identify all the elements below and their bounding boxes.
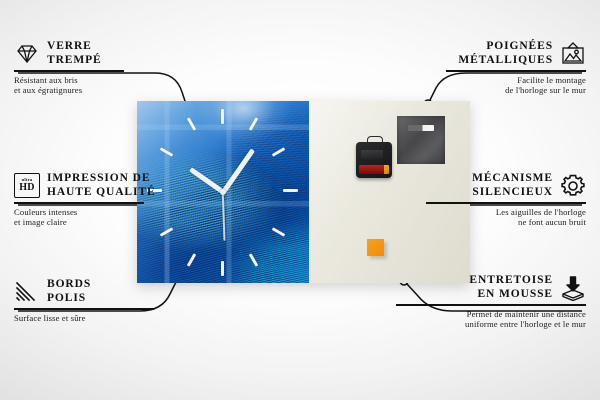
polished-edge-lines-icon bbox=[14, 279, 40, 305]
feature-bords-polis: BORDS POLIS Surface lisse et sûre bbox=[14, 278, 224, 323]
feature-header: VERRE TREMPÉ bbox=[14, 40, 224, 67]
feature-subtitle: Facilite le montage de l'horloge sur le … bbox=[376, 75, 586, 96]
feature-title: MÉCANISME SILENCIEUX bbox=[472, 172, 553, 199]
hanger-slot bbox=[408, 125, 434, 131]
arrow-onto-pad-icon bbox=[560, 275, 586, 301]
feature-title: IMPRESSION DE HAUTE QUALITÉ bbox=[47, 172, 156, 199]
feature-subtitle: Couleurs intenses et image claire bbox=[14, 207, 224, 228]
hd-label: HD bbox=[19, 183, 35, 193]
feature-title: VERRE TREMPÉ bbox=[47, 40, 102, 67]
infographic-canvas: VERRE TREMPÉ Résistant aux bris et aux é… bbox=[0, 0, 600, 400]
gear-icon bbox=[560, 173, 586, 199]
feature-header: ENTRETOISE EN MOUSSE bbox=[376, 274, 586, 301]
clock-tick bbox=[221, 261, 224, 276]
feature-header: ultra HD IMPRESSION DE HAUTE QUALITÉ bbox=[14, 172, 224, 199]
feature-header: POIGNÉES MÉTALLIQUES bbox=[376, 40, 586, 67]
picture-frame-hanger-icon bbox=[560, 41, 586, 67]
ultra-hd-badge-icon: ultra HD bbox=[14, 173, 40, 199]
metal-hanger-plate bbox=[397, 116, 445, 164]
divider bbox=[446, 70, 586, 72]
clock-tick bbox=[283, 189, 298, 192]
feature-subtitle: Surface lisse et sûre bbox=[14, 313, 224, 324]
clock-tick bbox=[221, 109, 224, 124]
divider bbox=[14, 202, 144, 204]
divider bbox=[426, 202, 586, 204]
divider bbox=[14, 70, 124, 72]
feature-title: BORDS POLIS bbox=[47, 278, 91, 305]
divider bbox=[396, 304, 586, 306]
feature-mecanisme-silencieux: MÉCANISME SILENCIEUX Les aiguilles de l'… bbox=[376, 172, 586, 228]
feature-subtitle: Permet de maintenir une distance uniform… bbox=[376, 309, 586, 330]
mechanism-detail bbox=[361, 150, 383, 159]
feature-title: POIGNÉES MÉTALLIQUES bbox=[458, 40, 553, 67]
feature-entretoise-en-mousse: ENTRETOISE EN MOUSSE Permet de maintenir… bbox=[376, 274, 586, 330]
diamond-icon bbox=[14, 41, 40, 67]
feature-impression-haute-qualite: ultra HD IMPRESSION DE HAUTE QUALITÉ Cou… bbox=[14, 172, 224, 228]
feature-subtitle: Résistant aux bris et aux égratignures bbox=[14, 75, 224, 96]
feature-header: BORDS POLIS bbox=[14, 278, 224, 305]
feature-header: MÉCANISME SILENCIEUX bbox=[376, 172, 586, 199]
feature-subtitle: Les aiguilles de l'horloge ne font aucun… bbox=[376, 207, 586, 228]
feature-poignees-metalliques: POIGNÉES MÉTALLIQUES Facilite le montage… bbox=[376, 40, 586, 96]
foam-spacer bbox=[367, 239, 384, 256]
divider bbox=[14, 308, 154, 310]
feature-title: ENTRETOISE EN MOUSSE bbox=[469, 274, 553, 301]
feature-verre-trempe: VERRE TREMPÉ Résistant aux bris et aux é… bbox=[14, 40, 224, 96]
mechanism-hanging-loop bbox=[367, 136, 383, 146]
